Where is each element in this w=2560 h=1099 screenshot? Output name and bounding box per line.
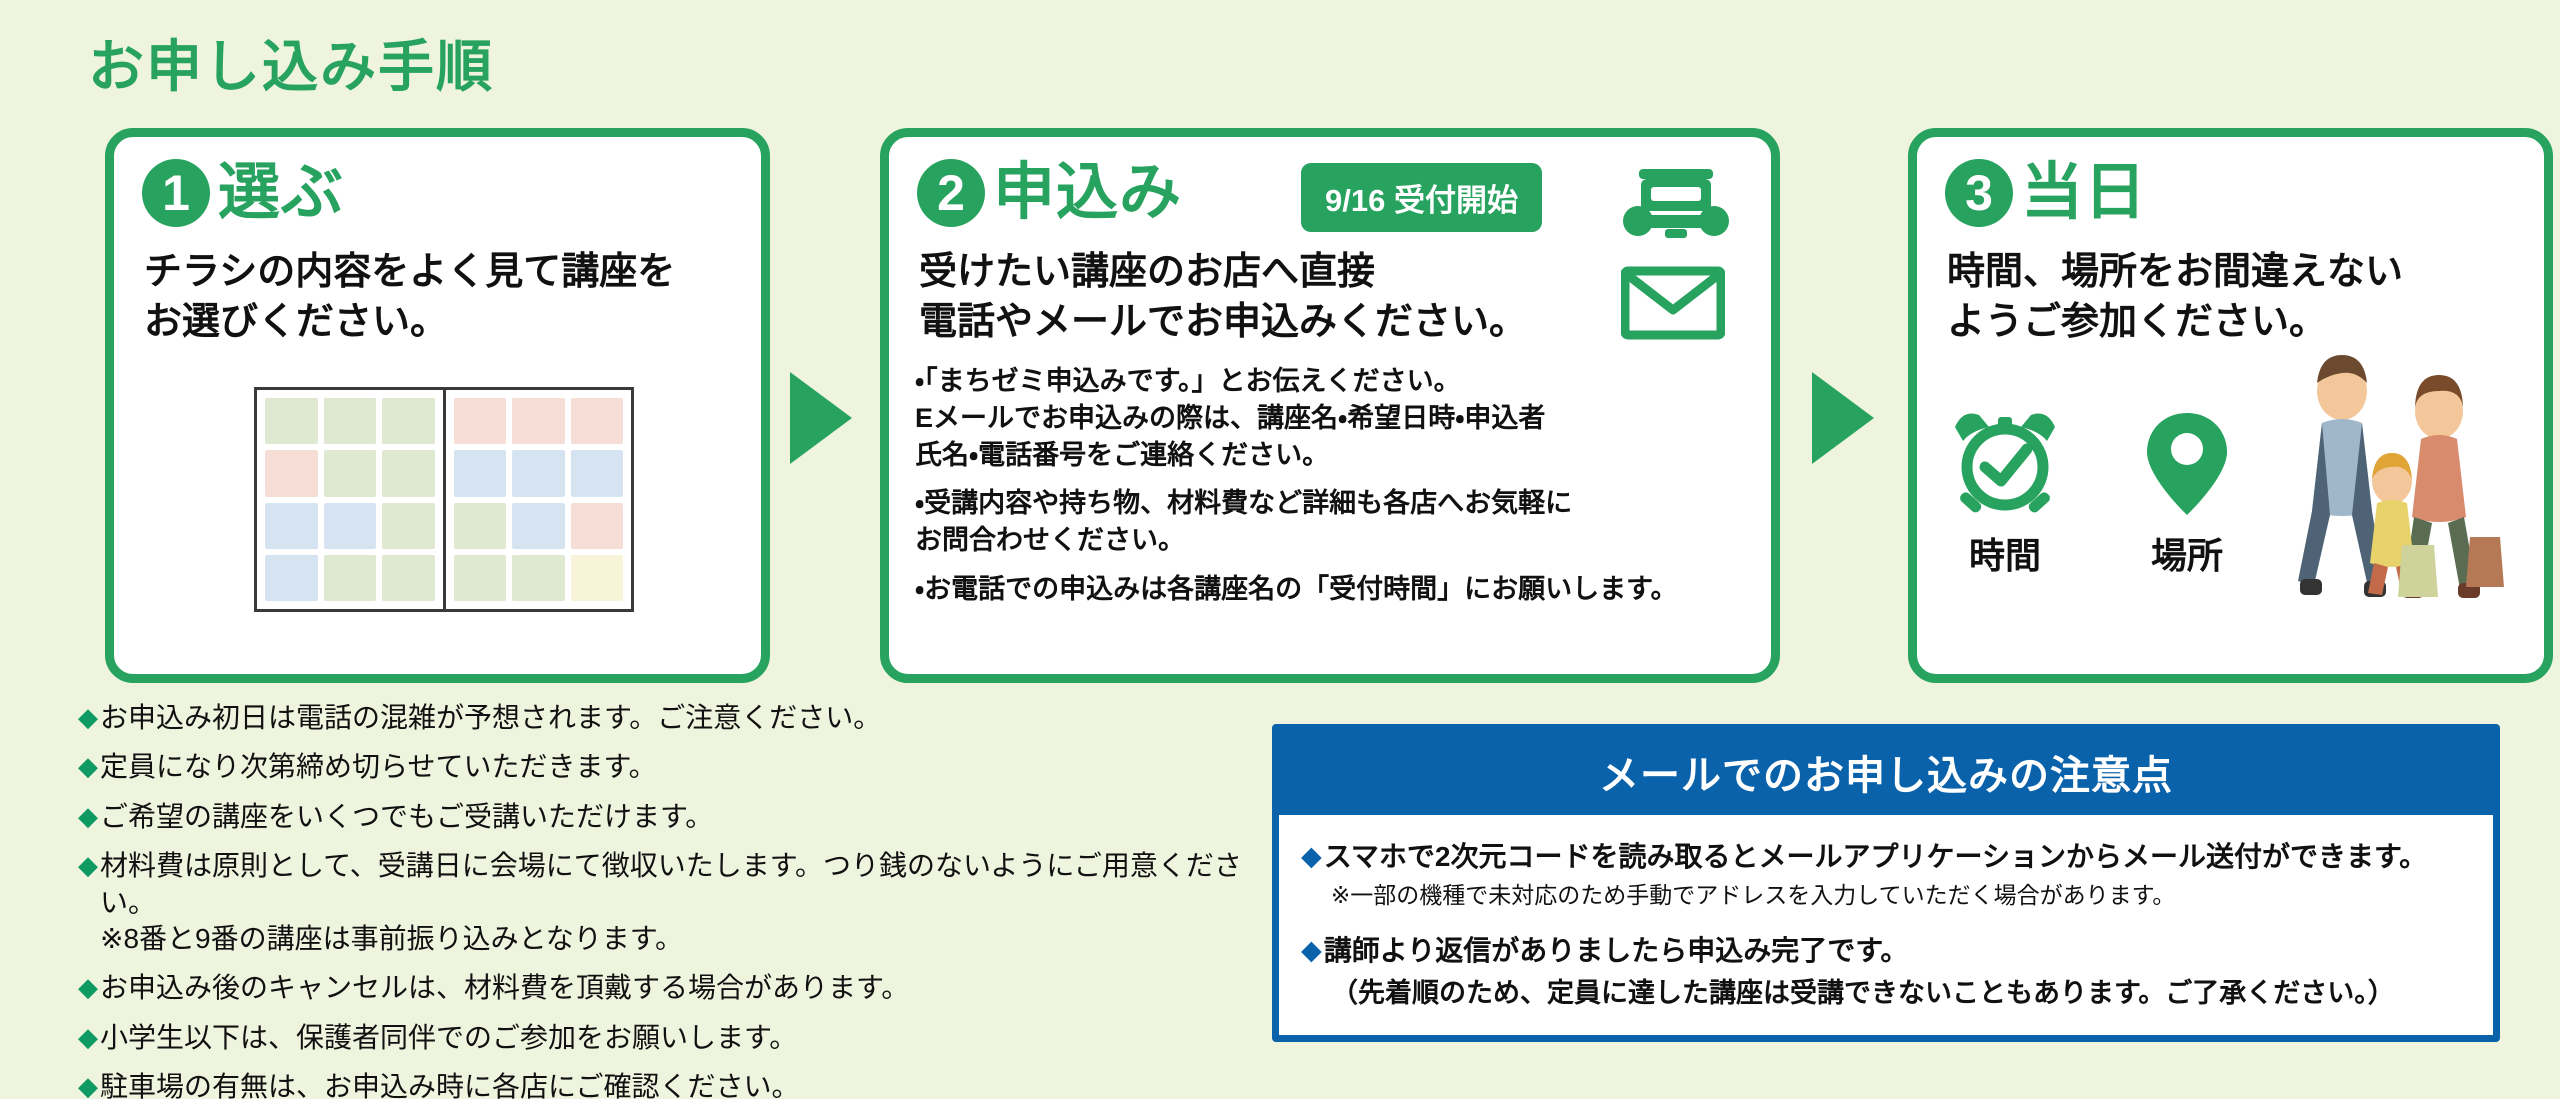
step-3-icon-row: 時間 場所 — [1945, 405, 2237, 579]
step-2-bullet-1: ・「まちゼミ申込みです。」とお伝えください。 Eメールでお申込みの際は、講座名・… — [915, 363, 1771, 473]
step-2-bullet-3: ・お電話での申込みは各講座名の「受付時間」にお願いします。 — [915, 571, 1771, 608]
step-2-bullet-2: ・受講内容や持ち物、材料費など詳細も各店へお気軽に お問合わせください。 — [915, 485, 1771, 558]
email-notice-item-2: ◆ 講師より返信がありましたら申込み完了です。 — [1301, 933, 2471, 969]
email-notice-item-1-text: スマホで2次元コードを読み取るとメールアプリケーションからメール送付ができます。 — [1324, 839, 2427, 875]
step-card-2: 2 申込み 9/16 受付開始 受けたい講座のお店へ直接 電話やメールでお申込み… — [880, 128, 1780, 683]
phone-icon — [1621, 163, 1731, 246]
step-3-title: 当日 — [2021, 162, 2147, 224]
step-2-bullet-list: ・「まちゼミ申込みです。」とお伝えください。 Eメールでお申込みの際は、講座名・… — [915, 363, 1771, 607]
step-card-1: 1 選ぶ チラシの内容をよく見て講座を お選びください。 — [105, 128, 770, 683]
diamond-bullet-icon: ◆ — [78, 970, 98, 1005]
note-item: ◆ 定員になり次第締め切らせていただきます。 — [78, 749, 1268, 785]
arrow-step2-to-step3-icon — [1812, 372, 1874, 464]
step-3-header: 3 当日 — [1945, 159, 2544, 227]
note-item: ◆ 小学生以下は、保護者同伴でのご参加をお願いします。 — [78, 1020, 1268, 1056]
note-text: お申込み初日は電話の混雑が予想されます。ご注意ください。 — [100, 700, 881, 736]
place-icon-group: 場所 — [2137, 405, 2237, 579]
note-item: ◆ お申込み後のキャンセルは、材料費を頂戴する場合があります。 — [78, 970, 1268, 1006]
diamond-bullet-icon: ◆ — [78, 1069, 98, 1099]
diamond-bullet-icon: ◆ — [78, 700, 98, 735]
note-text: 駐車場の有無は、お申込み時に各店にご確認ください。 — [100, 1069, 799, 1099]
note-item: ◆ 材料費は原則として、受講日に会場にて徴収いたします。つり銭のないようにご用意… — [78, 848, 1268, 957]
note-text: お申込み後のキャンセルは、材料費を頂戴する場合があります。 — [100, 970, 909, 1006]
email-notice-item-2-subtext: （先着順のため、定員に達した講座は受講できないこともあります。ご了承ください。） — [1331, 976, 2471, 1011]
step-2-number: 2 — [917, 159, 985, 227]
email-notice-body: ◆ スマホで2次元コードを読み取るとメールアプリケーションからメール送付ができま… — [1279, 815, 2493, 1011]
reception-start-badge: 9/16 受付開始 — [1301, 163, 1542, 232]
diamond-bullet-icon: ◆ — [78, 749, 98, 784]
note-item: ◆ 駐車場の有無は、お申込み時に各店にご確認ください。 — [78, 1069, 1268, 1099]
diamond-bullet-icon: ◆ — [78, 848, 98, 883]
diamond-bullet-icon: ◆ — [1301, 933, 1322, 968]
alarm-clock-icon — [1945, 405, 2065, 523]
arrow-step1-to-step2-icon — [790, 372, 852, 464]
application-notes-list: ◆ お申込み初日は電話の混雑が予想されます。ご注意ください。 ◆ 定員になり次第… — [78, 700, 1268, 1099]
email-notice-heading: メールでのお申し込みの注意点 — [1279, 731, 2493, 815]
email-notice-item-1: ◆ スマホで2次元コードを読み取るとメールアプリケーションからメール送付ができま… — [1301, 839, 2471, 875]
time-label: 時間 — [1969, 527, 2041, 579]
page-title: お申し込み手順 — [88, 22, 494, 103]
time-icon-group: 時間 — [1945, 405, 2065, 579]
note-item: ◆ ご希望の講座をいくつでもご受講いただけます。 — [78, 799, 1268, 835]
note-text: ご希望の講座をいくつでもご受講いただけます。 — [100, 799, 713, 835]
map-pin-icon — [2137, 405, 2237, 523]
flyer-right-page — [443, 390, 632, 609]
note-item: ◆ お申込み初日は電話の混雑が予想されます。ご注意ください。 — [78, 700, 1268, 736]
step-1-number: 1 — [142, 159, 210, 227]
family-illustration — [2234, 331, 2534, 666]
flyer-left-page — [257, 390, 443, 609]
flyer-thumbnail-illustration — [254, 387, 634, 612]
note-text: 材料費は原則として、受講日に会場にて徴収いたします。つり銭のないようにご用意くだ… — [100, 848, 1268, 957]
email-notice-item-1-subtext: ※一部の機種で未対応のため手動でアドレスを入力していただく場合があります。 — [1331, 881, 2471, 911]
flyer-application-steps-section: お申し込み手順 1 選ぶ チラシの内容をよく見て講座を お選びください。 — [0, 0, 2560, 1099]
step-2-title: 申込み — [993, 162, 1182, 224]
place-label: 場所 — [2151, 527, 2223, 579]
step-card-3: 3 当日 時間、場所をお間違えない ようご参加ください。 時間 — [1908, 128, 2553, 683]
email-notice-item-2-text: 講師より返信がありましたら申込み完了です。 — [1324, 933, 1909, 969]
note-text: 定員になり次第締め切らせていただきます。 — [100, 749, 657, 785]
diamond-bullet-icon: ◆ — [1301, 839, 1322, 874]
diamond-bullet-icon: ◆ — [78, 1020, 98, 1055]
email-application-notice-box: メールでのお申し込みの注意点 ◆ スマホで2次元コードを読み取るとメールアプリケ… — [1272, 724, 2500, 1042]
note-text: 小学生以下は、保護者同伴でのご参加をお願いします。 — [100, 1020, 797, 1056]
step-3-number: 3 — [1945, 159, 2013, 227]
step-1-header: 1 選ぶ — [142, 159, 761, 227]
diamond-bullet-icon: ◆ — [78, 799, 98, 834]
mail-icon — [1621, 265, 1725, 346]
step-1-title: 選ぶ — [218, 162, 344, 224]
step-1-body: チラシの内容をよく見て講座を お選びください。 — [144, 247, 761, 347]
